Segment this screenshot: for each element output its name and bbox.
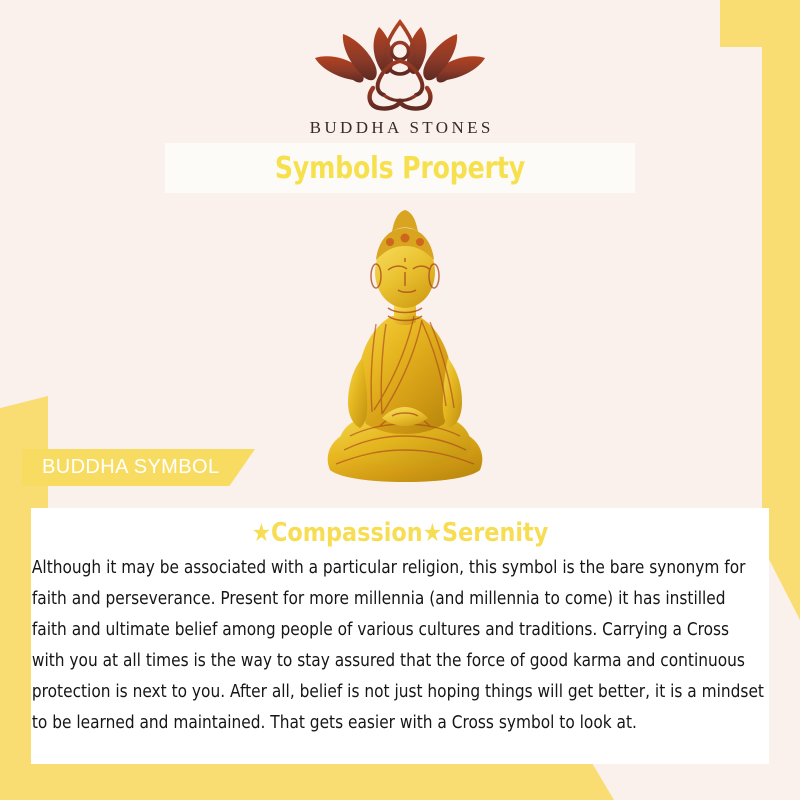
star-icon-right: ★	[423, 518, 442, 547]
subtitle-word-serenity: Serenity	[442, 518, 548, 548]
content-panel: ★Compassion★Serenity Although it may be …	[31, 508, 769, 764]
title-banner: Symbols Property	[165, 143, 635, 193]
page-title: Symbols Property	[275, 151, 525, 186]
brand-logo: BUDDHA STONES	[0, 18, 800, 138]
buddha-symbol-tag-label: BUDDHA SYMBOL	[42, 456, 219, 479]
accent-bar-bottom	[0, 764, 614, 800]
lotus-meditation-figure-icon	[305, 18, 495, 116]
seated-golden-buddha-statue-icon	[310, 198, 500, 490]
content-paragraph: Although it may be associated with a par…	[31, 548, 766, 739]
buddha-symbol-tag: BUDDHA SYMBOL	[22, 449, 255, 486]
star-icon-left: ★	[252, 518, 271, 547]
content-subtitle: ★Compassion★Serenity	[83, 508, 718, 548]
brand-name: BUDDHA STONES	[0, 118, 800, 138]
subtitle-word-compassion: Compassion	[271, 518, 423, 548]
poster-root: BUDDHA STONES Symbols Property	[0, 0, 800, 800]
